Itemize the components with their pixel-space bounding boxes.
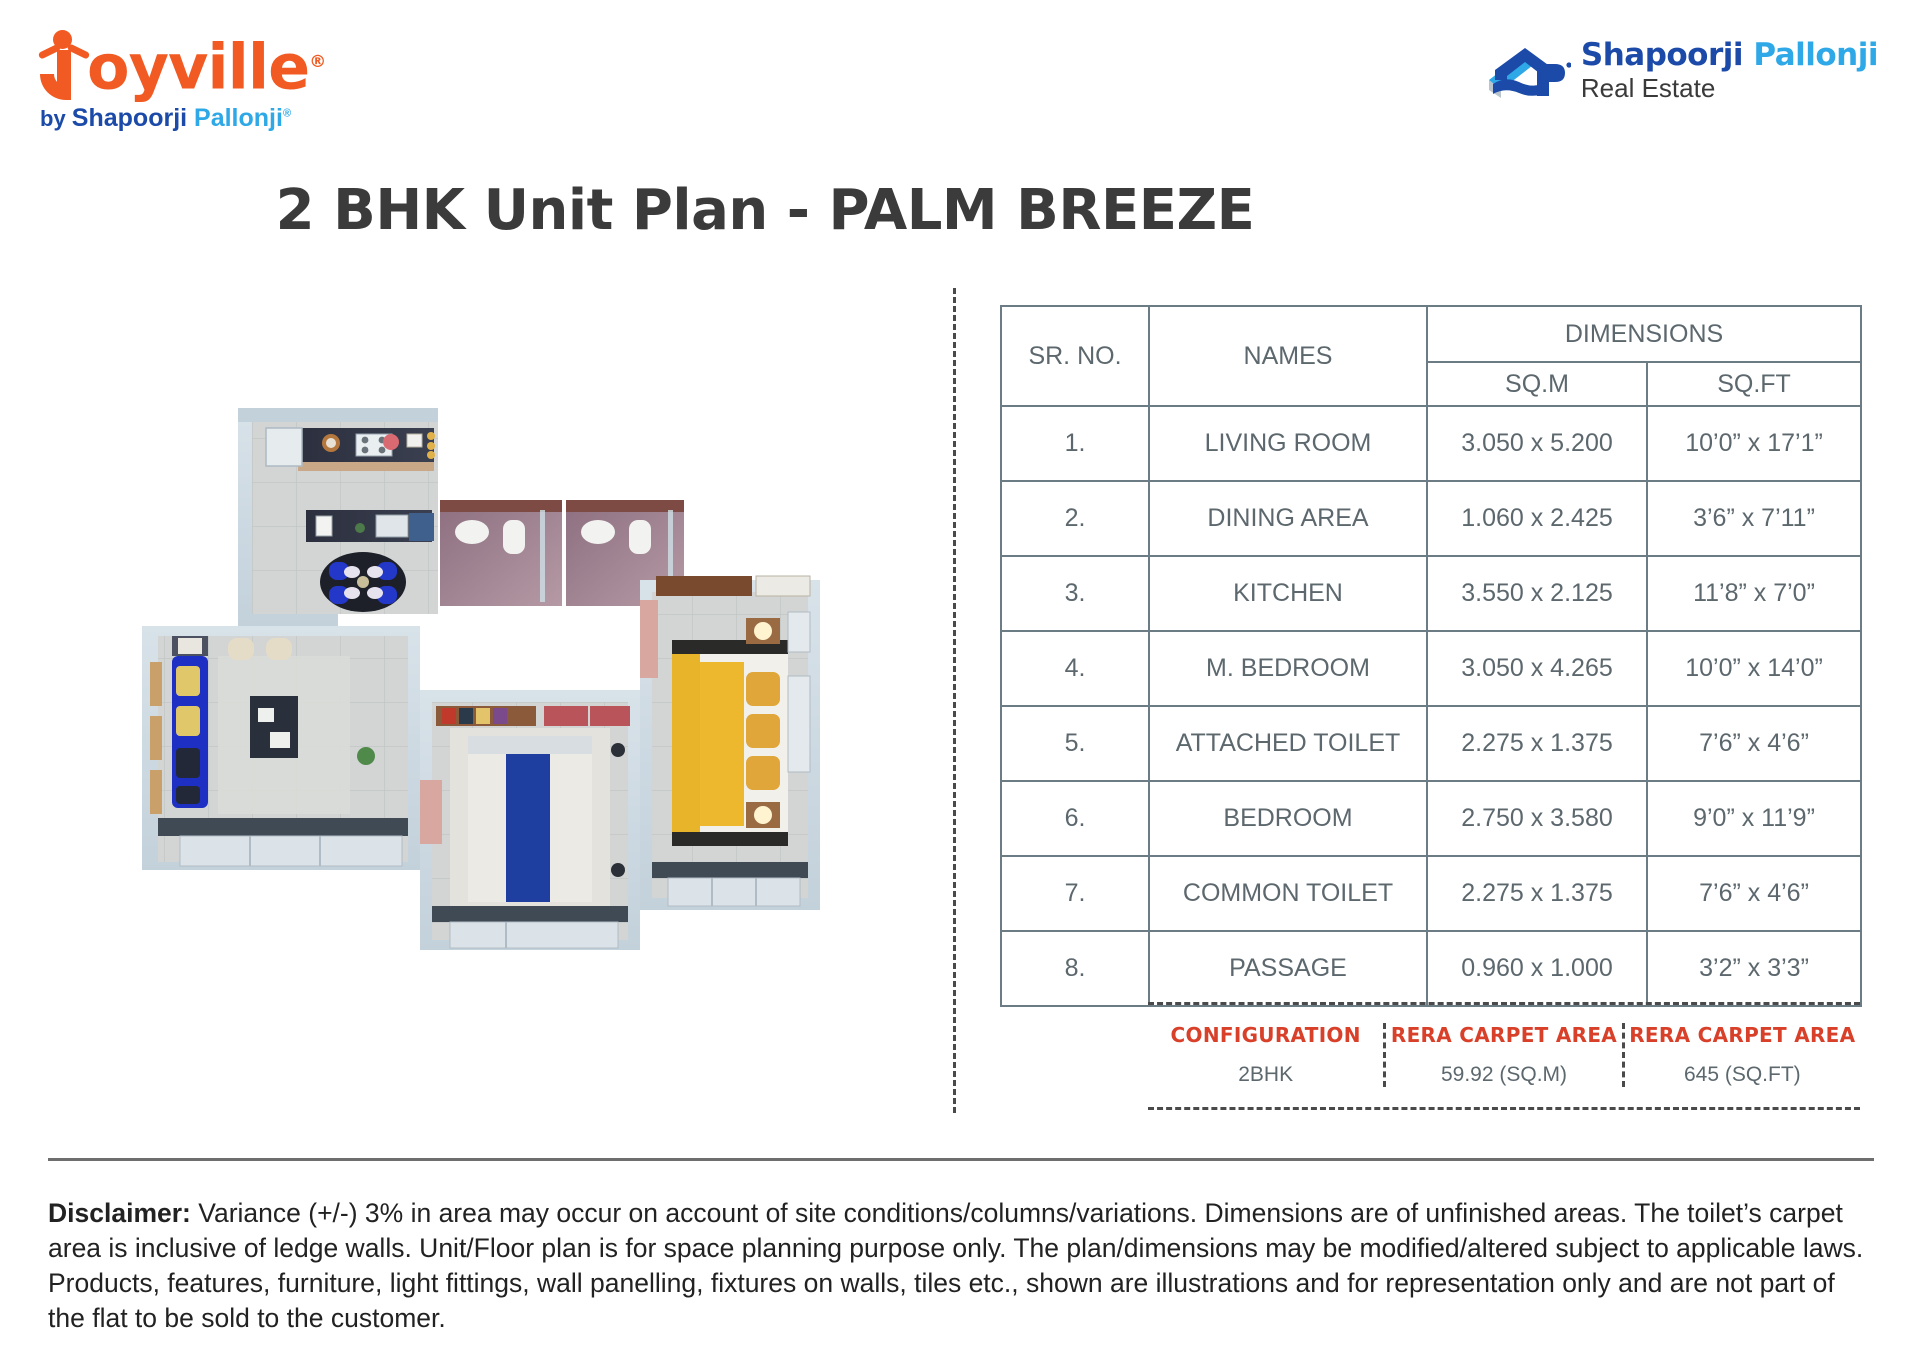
row-name: LIVING ROOM [1149, 406, 1427, 481]
page-title: 2 BHK Unit Plan - PALM BREEZE [0, 178, 1530, 243]
row-name: COMMON TOILET [1149, 856, 1427, 931]
table-row: 7. COMMON TOILET 2.275 x 1.375 7’6” x 4’… [1001, 856, 1861, 931]
dimensions-table-wrapper: SR. NO. NAMES DIMENSIONS SQ.M SQ.FT 1. L… [1000, 305, 1860, 1007]
row-sqm: 3.550 x 2.125 [1427, 556, 1647, 631]
row-sr: 2. [1001, 481, 1149, 556]
joyville-sp-first: Shapoorji [72, 104, 194, 132]
table-row: 6. BEDROOM 2.750 x 3.580 9’0” x 11’9” [1001, 781, 1861, 856]
sp-name-second: Pallonji [1753, 37, 1878, 73]
row-sqm: 3.050 x 4.265 [1427, 631, 1647, 706]
floor-plan-render [120, 350, 910, 1030]
joyville-subtitle: by Shapoorji Pallonji® [40, 104, 338, 133]
joyville-logo: oyville® by Shapoorji Pallonji® [38, 28, 338, 133]
shapoorji-pallonji-logo: Shapoorji Pallonji Real Estate [1485, 38, 1878, 103]
row-sr: 1. [1001, 406, 1149, 481]
row-sqm: 2.750 x 3.580 [1427, 781, 1647, 856]
row-sr: 3. [1001, 556, 1149, 631]
table-row: 3. KITCHEN 3.550 x 2.125 11’8” x 7’0” [1001, 556, 1861, 631]
row-sqft: 3’2” x 3’3” [1647, 931, 1861, 1006]
row-sqft: 3’6” x 7’11” [1647, 481, 1861, 556]
row-name: DINING AREA [1149, 481, 1427, 556]
floor-plan-illustration [120, 350, 910, 1030]
table-row: 1. LIVING ROOM 3.050 x 5.200 10’0” x 17’… [1001, 406, 1861, 481]
row-name: PASSAGE [1149, 931, 1427, 1006]
joyville-wordmark: oyville® [38, 28, 338, 100]
sp-monogram-icon [1485, 40, 1571, 102]
row-sqm: 3.050 x 5.200 [1427, 406, 1647, 481]
row-sr: 4. [1001, 631, 1149, 706]
joyville-j-figure-icon [38, 28, 90, 100]
sp-name-first: Shapoorji [1581, 37, 1753, 73]
row-sqft: 11’8” x 7’0” [1647, 556, 1861, 631]
row-name: BEDROOM [1149, 781, 1427, 856]
table-header-row: SR. NO. NAMES DIMENSIONS [1001, 306, 1861, 362]
header-sr-no: SR. NO. [1001, 306, 1149, 406]
dimensions-table: SR. NO. NAMES DIMENSIONS SQ.M SQ.FT 1. L… [1000, 305, 1862, 1007]
joyville-sp-second: Pallonji [194, 104, 283, 132]
row-name: KITCHEN [1149, 556, 1427, 631]
summary-carpet-sqft: RERA CARPET AREA 645 (SQ.FT) [1622, 1023, 1860, 1087]
sp-company-name: Shapoorji Pallonji [1581, 38, 1878, 72]
summary-carpet-sqm: RERA CARPET AREA 59.92 (SQ.M) [1383, 1023, 1621, 1087]
header-names: NAMES [1149, 306, 1427, 406]
joyville-sub-registered-mark: ® [283, 108, 291, 120]
carpet-sqm-label: RERA CARPET AREA [1386, 1023, 1621, 1047]
carpet-sqm-value: 59.92 (SQ.M) [1386, 1063, 1621, 1087]
disclaimer-block: Disclaimer: Variance (+/-) 3% in area ma… [48, 1196, 1876, 1336]
configuration-value: 2BHK [1148, 1063, 1383, 1087]
unit-plan-page: oyville® by Shapoorji Pallonji® Shapoorj… [0, 0, 1920, 1358]
row-sr: 6. [1001, 781, 1149, 856]
disclaimer-label: Disclaimer: [48, 1198, 191, 1228]
carpet-sqft-value: 645 (SQ.FT) [1625, 1063, 1860, 1087]
sp-division-label: Real Estate [1581, 73, 1878, 103]
row-sqft: 7’6” x 4’6” [1647, 856, 1861, 931]
row-name: M. BEDROOM [1149, 631, 1427, 706]
row-sqm: 0.960 x 1.000 [1427, 931, 1647, 1006]
header-sqft: SQ.FT [1647, 362, 1861, 406]
joyville-name: oyville® [87, 30, 325, 100]
row-sr: 8. [1001, 931, 1149, 1006]
sp-text-block: Shapoorji Pallonji Real Estate [1581, 38, 1878, 103]
row-sr: 5. [1001, 706, 1149, 781]
row-sqft: 7’6” x 4’6” [1647, 706, 1861, 781]
header-dimensions: DIMENSIONS [1427, 306, 1861, 362]
summary-strip: CONFIGURATION 2BHK RERA CARPET AREA 59.9… [1148, 1002, 1860, 1110]
table-row: 4. M. BEDROOM 3.050 x 4.265 10’0” x 14’0… [1001, 631, 1861, 706]
table-body: 1. LIVING ROOM 3.050 x 5.200 10’0” x 17’… [1001, 406, 1861, 1006]
row-sqm: 1.060 x 2.425 [1427, 481, 1647, 556]
carpet-sqft-label: RERA CARPET AREA [1625, 1023, 1860, 1047]
table-row: 8. PASSAGE 0.960 x 1.000 3’2” x 3’3” [1001, 931, 1861, 1006]
row-sqm: 2.275 x 1.375 [1427, 706, 1647, 781]
vertical-dashed-divider [953, 288, 956, 1113]
table-row: 2. DINING AREA 1.060 x 2.425 3’6” x 7’11… [1001, 481, 1861, 556]
row-sqft: 10’0” x 17’1” [1647, 406, 1861, 481]
row-sr: 7. [1001, 856, 1149, 931]
row-sqft: 10’0” x 14’0” [1647, 631, 1861, 706]
joyville-registered-mark: ® [309, 52, 325, 72]
configuration-label: CONFIGURATION [1148, 1023, 1383, 1047]
disclaimer-text: Variance (+/-) 3% in area may occur on a… [48, 1198, 1863, 1333]
disclaimer-divider [48, 1158, 1874, 1161]
joyville-by-text: by [40, 106, 72, 131]
header-sqm: SQ.M [1427, 362, 1647, 406]
row-sqm: 2.275 x 1.375 [1427, 856, 1647, 931]
summary-configuration: CONFIGURATION 2BHK [1148, 1023, 1383, 1087]
table-row: 5. ATTACHED TOILET 2.275 x 1.375 7’6” x … [1001, 706, 1861, 781]
row-name: ATTACHED TOILET [1149, 706, 1427, 781]
row-sqft: 9’0” x 11’9” [1647, 781, 1861, 856]
